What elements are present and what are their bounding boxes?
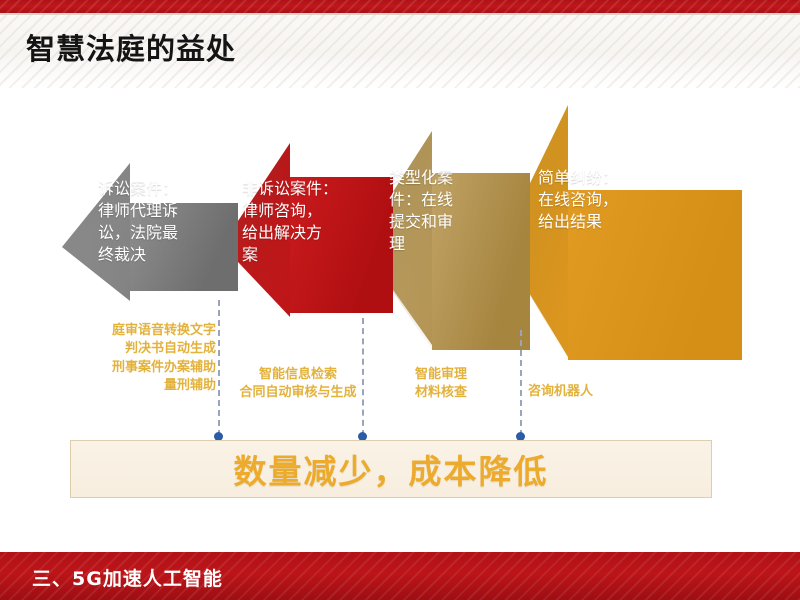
summary-text: 数量减少，成本降低 xyxy=(234,445,549,493)
connector-line-1 xyxy=(218,300,220,436)
slide-canvas: 智慧法庭的益处 xyxy=(0,0,800,600)
feature-group-typed-case: 智能审理 材料核查 xyxy=(386,366,496,403)
feature-group-litigation: 庭审语音转换文字 判决书自动生成 刑事案件办案辅助 量刑辅助 xyxy=(78,322,216,396)
arrow-label-typed-case: 类型化案 件：在线 提交和审 理 xyxy=(389,167,481,255)
feature-group-non-litigation: 智能信息检索 合同自动审核与生成 xyxy=(224,366,372,403)
header-divider xyxy=(0,13,800,15)
feature-group-simple-dispute: 咨询机器人 xyxy=(528,383,638,401)
connector-line-3 xyxy=(520,330,522,436)
arrow-label-litigation: 诉讼案件： 律师代理诉 讼，法院最 终裁决 xyxy=(98,178,206,266)
arrow-label-non-litigation: 非诉讼案件： 律师咨询， 给出解决方 案 xyxy=(242,178,360,266)
summary-banner: 数量减少，成本降低 xyxy=(70,440,712,498)
footer-section-title: 三、5G加速人工智能 xyxy=(32,564,223,591)
page-title: 智慧法庭的益处 xyxy=(26,26,236,68)
header-red-accent-bar xyxy=(0,0,800,13)
arrow-label-simple-dispute: 简单纠纷： 在线咨询， 给出结果 xyxy=(538,167,688,233)
